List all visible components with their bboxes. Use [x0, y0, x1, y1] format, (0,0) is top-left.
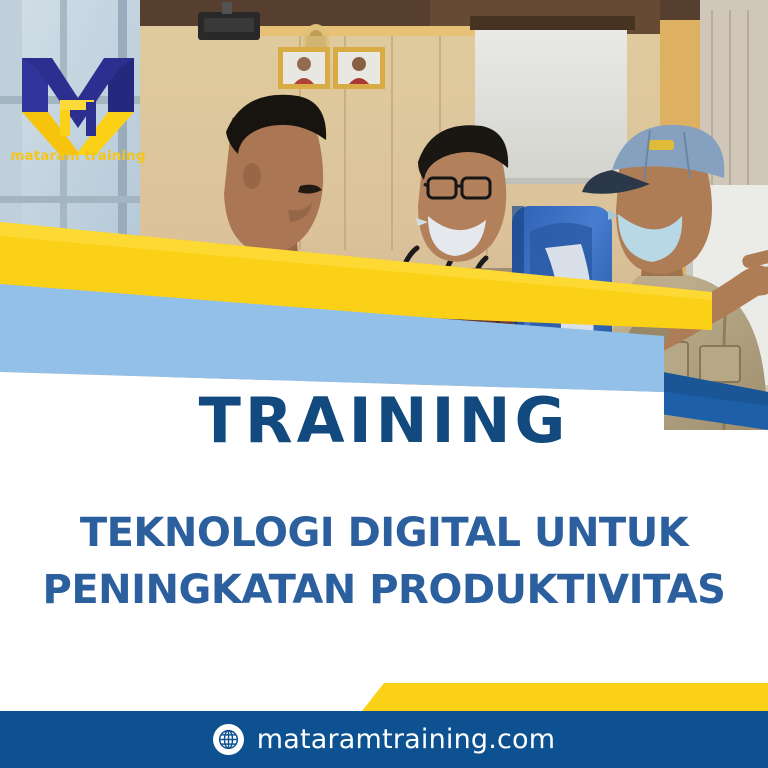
poster-canvas: mataram training TRAINING TEKNOLOGI DIGI…: [0, 0, 768, 768]
yellow-footer-accent: [362, 683, 768, 711]
footer-bar: mataramtraining.com: [0, 711, 768, 768]
subheadline-section: TEKNOLOGI DIGITAL UNTUK PENINGKATAN PROD…: [0, 505, 768, 619]
headline-section: TRAINING: [0, 390, 768, 452]
subheadline-line-1: TEKNOLOGI DIGITAL UNTUK: [0, 505, 768, 562]
subheadline-line-2: PENINGKATAN PRODUKTIVITAS: [0, 562, 768, 619]
mataram-m-monogram-icon: [8, 40, 148, 155]
brand-logo-text: mataram training: [8, 148, 148, 164]
globe-icon: [213, 724, 244, 755]
brand-logo[interactable]: mataram training: [8, 40, 148, 175]
footer-website-url[interactable]: mataramtraining.com: [257, 724, 556, 755]
page-title: TRAINING: [0, 390, 768, 452]
